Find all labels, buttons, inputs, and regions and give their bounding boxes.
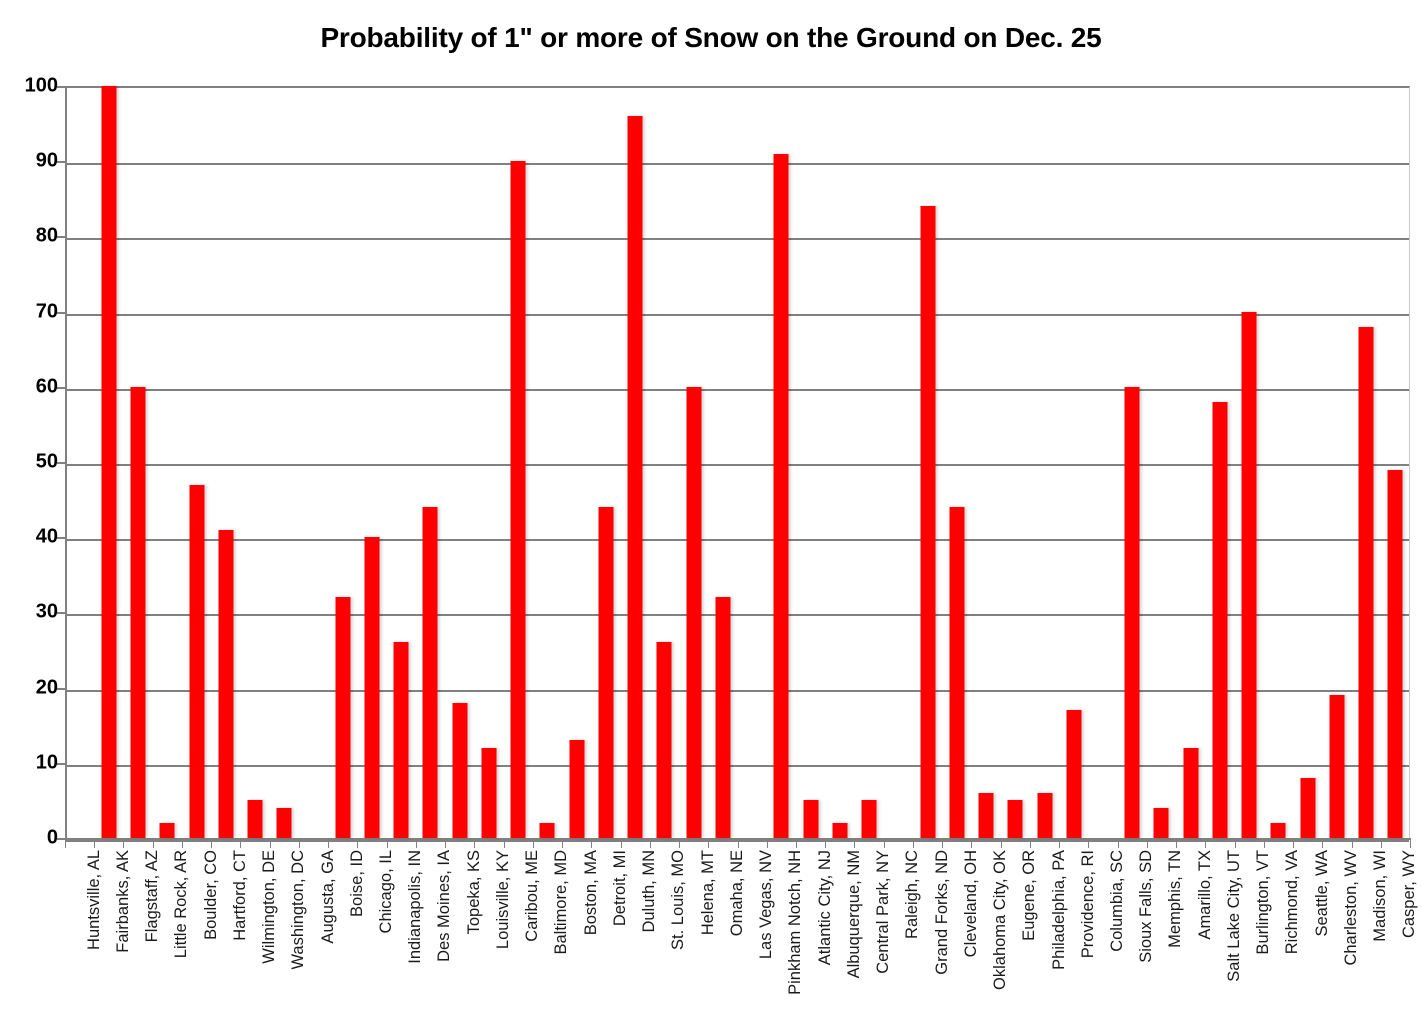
y-axis-tick-label: 70	[10, 300, 58, 323]
x-tick-mark	[1293, 838, 1294, 848]
y-axis-tick-label: 20	[10, 676, 58, 699]
bar-slot	[591, 86, 620, 838]
x-tick-mark	[1322, 838, 1323, 848]
bar-slot	[1059, 86, 1088, 838]
x-tick-mark	[270, 838, 271, 848]
bar[interactable]	[920, 206, 935, 838]
y-axis-tick-label: 50	[10, 451, 58, 474]
bar-slot	[796, 86, 825, 838]
bar-slot	[65, 86, 94, 838]
x-axis-category-label: Albuquerque, NM	[846, 850, 863, 1025]
x-tick-mark	[474, 838, 475, 848]
bar-slot	[123, 86, 152, 838]
x-axis-category-label: Richmond, VA	[1284, 850, 1301, 1025]
bar[interactable]	[979, 793, 994, 838]
x-tick-mark	[591, 838, 592, 848]
x-tick-mark	[1410, 838, 1411, 848]
x-axis-category-label: Central Park, NY	[875, 850, 892, 1025]
x-axis-category-label: Detroit, MI	[612, 850, 629, 1025]
bar-slot	[1293, 86, 1322, 838]
x-tick-mark	[708, 838, 709, 848]
x-tick-mark	[1381, 838, 1382, 848]
x-axis-category-label: Grand Forks, ND	[934, 850, 951, 1025]
x-tick-mark	[387, 838, 388, 848]
x-axis-category-label: Topeka, KS	[466, 850, 483, 1025]
x-tick-mark	[94, 838, 95, 848]
x-axis-category-label: Memphis, TN	[1167, 850, 1184, 1025]
y-axis-tick-label: 80	[10, 225, 58, 248]
bar-slot	[240, 86, 269, 838]
y-axis-tick-label: 30	[10, 601, 58, 624]
bar-slot	[767, 86, 796, 838]
x-tick-mark	[562, 838, 563, 848]
bar-slot	[387, 86, 416, 838]
bar[interactable]	[394, 642, 409, 838]
x-axis-category-label: Fairbanks, AK	[115, 850, 132, 1025]
bar[interactable]	[686, 387, 701, 838]
x-tick-mark	[328, 838, 329, 848]
x-axis-category-label: Seattle, WA	[1314, 850, 1331, 1025]
bar[interactable]	[832, 823, 847, 838]
y-tick-mark-90	[57, 161, 65, 163]
bar[interactable]	[1037, 793, 1052, 838]
x-tick-mark	[854, 838, 855, 848]
bar[interactable]	[511, 161, 526, 838]
y-tick-mark-20	[57, 688, 65, 690]
x-axis-category-label: Burlington, VT	[1255, 850, 1272, 1025]
x-axis-category-label: Salt Lake City, UT	[1226, 850, 1243, 1025]
x-axis-category-label: Eugene, OR	[1021, 850, 1038, 1025]
x-axis-category-label: Charleston, WV	[1343, 850, 1360, 1025]
y-axis-tick-label: 60	[10, 375, 58, 398]
x-axis-category-label: Amarillo, TX	[1197, 850, 1214, 1025]
bar-slot	[1118, 86, 1147, 838]
bar-slot	[621, 86, 650, 838]
x-tick-mark	[679, 838, 680, 848]
x-axis-category-label: Las Vegas, NV	[758, 850, 775, 1025]
bar-slot	[1235, 86, 1264, 838]
x-tick-mark	[211, 838, 212, 848]
x-axis-category-label: Helena, MT	[700, 850, 717, 1025]
bars-layer	[65, 86, 1410, 838]
bar[interactable]	[131, 387, 146, 838]
bar-slot	[270, 86, 299, 838]
x-axis-category-label: Raleigh, NC	[904, 850, 921, 1025]
x-tick-mark	[1088, 838, 1089, 848]
bar[interactable]	[803, 800, 818, 838]
bar-slot	[1001, 86, 1030, 838]
bar[interactable]	[1359, 327, 1374, 838]
bar-slot	[1381, 86, 1410, 838]
bar[interactable]	[452, 703, 467, 838]
x-tick-mark	[1030, 838, 1031, 848]
bar-slot	[94, 86, 123, 838]
x-axis-category-label: Flagstaff, AZ	[144, 850, 161, 1025]
bar[interactable]	[1242, 312, 1257, 838]
x-axis-category-label: Washington, DC	[290, 850, 307, 1025]
x-tick-mark	[1147, 838, 1148, 848]
y-tick-mark-0	[57, 838, 65, 840]
x-tick-mark	[299, 838, 300, 848]
bar-slot	[1147, 86, 1176, 838]
x-axis-category-label: Little Rock, AR	[173, 850, 190, 1025]
x-tick-mark	[357, 838, 358, 848]
bar[interactable]	[1008, 800, 1023, 838]
x-axis-category-label: St. Louis, MO	[670, 850, 687, 1025]
bar[interactable]	[218, 530, 233, 838]
y-axis-tick-label: 40	[10, 526, 58, 549]
x-axis-category-label: Columbia, SC	[1109, 850, 1126, 1025]
x-tick-mark	[650, 838, 651, 848]
bar[interactable]	[277, 808, 292, 838]
x-axis-category-label: Hartford, CT	[232, 850, 249, 1025]
x-tick-mark	[1264, 838, 1265, 848]
bar-slot	[913, 86, 942, 838]
x-tick-mark	[445, 838, 446, 848]
bar[interactable]	[365, 537, 380, 838]
bar-slot	[153, 86, 182, 838]
x-axis-category-label: Indianapolis, IN	[407, 850, 424, 1025]
y-axis-tick-label: 100	[10, 75, 58, 98]
bar-slot	[650, 86, 679, 838]
x-tick-mark	[533, 838, 534, 848]
x-axis-category-label: Caribou, ME	[524, 850, 541, 1025]
bar[interactable]	[862, 800, 877, 838]
y-tick-mark-10	[57, 763, 65, 765]
bar[interactable]	[657, 642, 672, 838]
y-axis-tick-label: 10	[10, 751, 58, 774]
y-tick-mark-100	[57, 86, 65, 88]
x-axis-category-label: Wilmington, DE	[261, 850, 278, 1025]
x-axis-category-label: Boulder, CO	[203, 850, 220, 1025]
y-tick-mark-80	[57, 236, 65, 238]
bar-slot	[942, 86, 971, 838]
bar-slot	[971, 86, 1000, 838]
bar[interactable]	[1388, 470, 1403, 838]
bar[interactable]	[540, 823, 555, 838]
x-tick-mark	[182, 838, 183, 848]
bar-slot	[182, 86, 211, 838]
bar[interactable]	[715, 597, 730, 838]
x-axis-category-label: Boston, MA	[583, 850, 600, 1025]
x-axis-category-label: Oklahoma City, OK	[992, 850, 1009, 1025]
x-tick-mark	[504, 838, 505, 848]
bar-slot	[1352, 86, 1381, 838]
x-axis-category-label: Des Moines, IA	[436, 850, 453, 1025]
bar[interactable]	[949, 507, 964, 838]
bar[interactable]	[1154, 808, 1169, 838]
bar[interactable]	[1300, 778, 1315, 838]
bar-slot	[738, 86, 767, 838]
bar-slot	[533, 86, 562, 838]
bar[interactable]	[248, 800, 263, 838]
y-tick-mark-70	[57, 312, 65, 314]
y-axis-tick-label: 90	[10, 150, 58, 173]
x-axis-category-label: Cleveland, OH	[963, 850, 980, 1025]
x-axis-category-label: Huntsville, AL	[86, 850, 103, 1025]
bar-slot	[1176, 86, 1205, 838]
x-tick-mark	[825, 838, 826, 848]
x-tick-mark	[1059, 838, 1060, 848]
x-axis-category-label: Boise, ID	[349, 850, 366, 1025]
x-tick-mark	[621, 838, 622, 848]
bar-slot	[679, 86, 708, 838]
x-tick-mark	[1118, 838, 1119, 848]
x-axis-category-label: Casper, WY	[1401, 850, 1418, 1025]
snow-probability-bar-chart: Probability of 1" or more of Snow on the…	[0, 0, 1422, 1029]
bar[interactable]	[335, 597, 350, 838]
bar[interactable]	[1183, 748, 1198, 838]
bar[interactable]	[101, 86, 116, 838]
x-tick-mark	[416, 838, 417, 848]
bar[interactable]	[1212, 402, 1227, 838]
x-tick-mark	[1001, 838, 1002, 848]
y-tick-mark-50	[57, 462, 65, 464]
y-tick-mark-60	[57, 387, 65, 389]
x-tick-mark	[738, 838, 739, 848]
bar-slot	[884, 86, 913, 838]
bar-slot	[708, 86, 737, 838]
bar-slot	[1264, 86, 1293, 838]
bar-slot	[416, 86, 445, 838]
x-axis-category-label: Augusta, GA	[320, 850, 337, 1025]
x-axis-labels: Huntsville, ALFairbanks, AKFlagstaff, AZ…	[65, 850, 1410, 1025]
x-tick-mark	[1205, 838, 1206, 848]
x-axis-category-label: Chicago, IL	[378, 850, 395, 1025]
y-tick-mark-30	[57, 612, 65, 614]
x-tick-mark	[796, 838, 797, 848]
bar[interactable]	[1066, 710, 1081, 838]
x-axis-category-label: Atlantic City, NJ	[817, 850, 834, 1025]
bar-slot	[854, 86, 883, 838]
bar[interactable]	[569, 740, 584, 838]
x-tick-mark	[913, 838, 914, 848]
bar[interactable]	[481, 748, 496, 838]
bar-slot	[474, 86, 503, 838]
bar[interactable]	[189, 485, 204, 838]
x-tick-mark	[1176, 838, 1177, 848]
x-tick-mark	[942, 838, 943, 848]
x-axis-category-label: Madison, WI	[1372, 850, 1389, 1025]
x-axis-category-label: Duluth, MN	[641, 850, 658, 1025]
x-axis-category-label: Louisville, KY	[495, 850, 512, 1025]
bar-slot	[1088, 86, 1117, 838]
chart-title: Probability of 1" or more of Snow on the…	[0, 22, 1422, 54]
bar-slot	[562, 86, 591, 838]
x-tick-mark	[1235, 838, 1236, 848]
bar-slot	[211, 86, 240, 838]
x-tick-mark	[1352, 838, 1353, 848]
bar-slot	[825, 86, 854, 838]
bar[interactable]	[1125, 387, 1140, 838]
bar-slot	[504, 86, 533, 838]
x-axis-category-label: Omaha, NE	[729, 850, 746, 1025]
bar[interactable]	[598, 507, 613, 838]
bar-slot	[445, 86, 474, 838]
bar[interactable]	[423, 507, 438, 838]
bar-slot	[1322, 86, 1351, 838]
x-tick-mark	[884, 838, 885, 848]
bar[interactable]	[1329, 695, 1344, 838]
x-tick-mark	[153, 838, 154, 848]
bar[interactable]	[1271, 823, 1286, 838]
x-tick-mark	[767, 838, 768, 848]
bar-slot	[299, 86, 328, 838]
bar[interactable]	[774, 154, 789, 838]
bar-slot	[1205, 86, 1234, 838]
bar-slot	[357, 86, 386, 838]
y-tick-mark-40	[57, 537, 65, 539]
bar-slot	[1030, 86, 1059, 838]
bar[interactable]	[628, 116, 643, 838]
x-axis-category-label: Sioux Falls, SD	[1138, 850, 1155, 1025]
x-axis-category-label: Philadelphia, PA	[1051, 850, 1068, 1025]
x-tick-mark	[65, 838, 66, 848]
x-tick-mark	[240, 838, 241, 848]
x-axis-category-label: Pinkham Notch, NH	[787, 850, 804, 1025]
bar[interactable]	[160, 823, 175, 838]
x-tick-mark	[971, 838, 972, 848]
bar-slot	[328, 86, 357, 838]
x-axis-category-label: Providence, RI	[1080, 850, 1097, 1025]
x-tick-mark	[123, 838, 124, 848]
x-axis-category-label: Baltimore, MD	[553, 850, 570, 1025]
y-axis-tick-label: 0	[10, 827, 58, 850]
